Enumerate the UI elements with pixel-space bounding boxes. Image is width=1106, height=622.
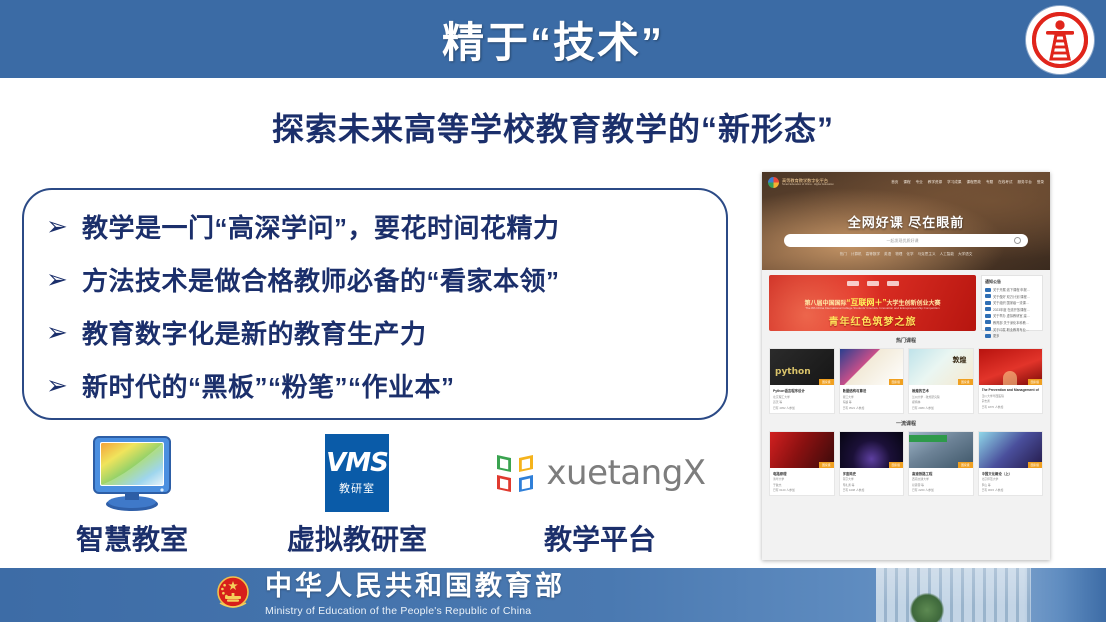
vms-logo: VMS 教研室 [242,432,472,514]
notice-item[interactable]: 关于做好 双万计划 课程… [985,294,1039,299]
search-placeholder: 一起发现优质好课 [887,238,919,244]
logo-item-smart-classroom: 智慧教室 [22,432,242,514]
notice-tag-icon [985,327,991,331]
logo-caption: 智慧教室 [22,518,242,558]
site-top-nav[interactable]: 高等教育教学数字化平台 Smart Education of China · H… [762,172,1050,192]
notice-item[interactable]: 关于举办 虚拟教研室 建… [985,313,1039,318]
course-card-row: 国家级 电路原理 清华大学 于歆杰 已有 6120 人参加 国家级 宇宙简史 南… [769,431,1043,497]
xuetangx-logo: xuetangX [472,432,728,514]
course-teacher: 郑炳林 [912,400,970,404]
nav-item[interactable]: 专题 [986,180,993,185]
notice-item[interactable]: 2023年度 在线开放课程… [985,307,1039,312]
monitor-icon [22,432,242,514]
course-title: 中国文化概论（上） [982,471,1040,476]
list-item: ➢ 教育数字化是新的教育生产力 [46,306,716,359]
nav-item[interactable]: 登录 [1037,180,1044,185]
notice-item-text: 2023年度 在线开放课程… [993,307,1030,312]
course-thumbnail: 国家级 [770,349,834,385]
notice-item-text: 关于做好 双万计划 课程… [993,294,1030,299]
course-teacher: 周礼勇 等 [843,483,901,487]
hero-tag[interactable]: 英语 [884,252,891,257]
page-title: 精于“技术” [0,0,1106,78]
ministry-building-photo [876,568,1031,622]
hero-tag[interactable]: 化学 [906,252,913,257]
notice-item-text: 更多 [993,333,999,338]
course-meta: 已有 2980 人参加 [912,406,970,410]
notice-item-text: 关于举办 虚拟教研室 建… [993,313,1030,318]
notice-item-text: 教育部 关于深化本科教… [993,320,1029,325]
course-teacher: 李山 等 [982,483,1040,487]
course-school: 西南交通大学 [912,477,970,481]
course-meta: 已有 3521 人参加 [843,406,901,410]
notice-tag-icon [985,320,991,324]
slide-root: 精于“技术” 探索未来高等学校教育教学的“新形 [0,0,1106,622]
hero-tag[interactable]: 马克思主义 [918,252,936,257]
course-meta: 已有 2260 人参加 [912,488,970,492]
course-title: The Prevention and Management of C… [982,388,1040,392]
notice-item[interactable]: 教育部 关于深化本科教… [985,320,1039,325]
course-card[interactable]: 国家级 高速铁路工程 西南交通大学 易思蓉 等 已有 2260 人参加 [908,431,974,497]
logo-item-teaching-platform: xuetangX 教学平台 [472,432,728,514]
xuetangx-wordmark: xuetangX [546,453,705,493]
site-nav-items[interactable]: 首页 课程 专业 教学资源 学习成果 课程思政 专题 在线考试 服务平台 登录 [891,180,1044,185]
ministry-name-en: Ministry of Education of the People's Re… [265,604,565,620]
nav-item[interactable]: 教学资源 [928,180,942,185]
nav-item[interactable]: 课程思政 [967,180,981,185]
course-meta: 已有 4408 人参加 [843,488,901,492]
arrow-bullet-icon: ➢ [46,214,82,240]
platform-logo-row: 智慧教室 VMS 教研室 虚拟教研室 [22,432,728,562]
bullet-list-box: ➢ 教学是一门“高深学问”，要花时间花精力 ➢ 方法技术是做合格教师必备的“看家… [22,188,728,420]
xuetangx-books-icon [494,451,536,495]
list-item: ➢ 新时代的“黑板”“粉笔”“作业本” [46,359,716,412]
hero-tag[interactable]: 大学语文 [958,252,972,257]
course-thumbnail: 国家级 [909,432,973,468]
course-badge: 国家级 [819,379,833,385]
course-school: 兰州大学 · 敦煌研究院 [912,395,970,399]
banner-line-en: The 8th China International College Stud… [769,306,976,310]
site-body: 第八届中国国际“互联网＋”大学生创新创业大赛 The 8th China Int… [762,270,1050,503]
bullet-text: 教育数字化是新的教育生产力 [82,314,427,351]
course-thumbnail: 国家级 [770,432,834,468]
course-badge: 国家级 [1028,462,1042,468]
slide-footer: 中华人民共和国教育部 Ministry of Education of the … [0,568,1106,622]
nav-item[interactable]: 首页 [891,180,898,185]
logo-caption: 教学平台 [472,518,728,558]
course-meta: 已有 3015 人参加 [982,488,1040,492]
course-school: 清华大学 [773,477,831,481]
section-title: 一流课程 [769,420,1043,427]
arrow-bullet-icon: ➢ [46,320,82,346]
logo-item-virtual-teaching-room: VMS 教研室 虚拟教研室 [242,432,472,514]
slide-subtitle: 探索未来高等学校教育教学的“新形态” [0,104,1106,150]
arrow-bullet-icon: ➢ [46,373,82,399]
site-brand-icon [768,177,779,188]
hero-tag[interactable]: 人工智能 [940,252,954,257]
nav-item[interactable]: 专业 [916,180,923,185]
notice-tag-icon [985,314,991,318]
sponsor-logos [769,281,976,286]
course-school: 北京理工大学 [773,395,831,399]
course-badge: 国家级 [819,462,833,468]
course-teacher: 宗志勇 [982,399,1040,403]
arrow-bullet-icon: ➢ [46,267,82,293]
sponsor-logo-icon [847,281,859,286]
course-school: 四川大学华西医院 [982,394,1040,398]
notice-panel[interactable]: 通知公告 关于开展 线下课程 申报… 关于做好 双万计划 课程… 关于组织 国家… [981,275,1043,331]
course-card[interactable]: 国家级 The Prevention and Management of C… … [978,348,1044,414]
course-badge: 国家级 [889,462,903,468]
search-input[interactable]: 一起发现优质好课 [784,234,1028,247]
course-title: 电路原理 [773,471,831,476]
site-brand-en: Smart Education of China · Higher Educat… [782,183,834,186]
hero-tag[interactable]: 热门 [840,252,847,257]
sponsor-logo-icon [867,281,879,286]
course-card[interactable]: 国家级 中国文化概论（上） 北京师范大学 李山 等 已有 3015 人参加 [978,431,1044,497]
course-teacher: 陈越 等 [843,400,901,404]
course-card-row: 国家级 Python语言程序设计 北京理工大学 嵩天 等 已有 4052 人参加… [769,348,1043,414]
notice-item[interactable]: 关于组织 国家级一流课… [985,300,1039,305]
course-teacher: 嵩天 等 [773,400,831,404]
notice-item[interactable]: 关于印发 职业教育专业… [985,327,1039,332]
notice-item-text: 关于印发 职业教育专业… [993,327,1029,332]
nav-item[interactable]: 在线考试 [998,180,1012,185]
course-card[interactable]: 国家级 电路原理 清华大学 于歆杰 已有 6120 人参加 [769,431,835,497]
ladder-emblem-logo [1026,6,1094,74]
nav-item[interactable]: 服务平台 [1017,180,1031,185]
course-meta: 已有 4052 人参加 [773,406,831,410]
course-title: Python语言程序设计 [773,388,831,393]
course-badge: 国家级 [889,379,903,385]
search-icon[interactable] [1014,237,1021,244]
notice-item[interactable]: 关于开展 线下课程 申报… [985,287,1039,292]
vms-wordmark: VMS [326,450,388,476]
vms-subtext: 教研室 [339,480,375,496]
banner-row: 第八届中国国际“互联网＋”大学生创新创业大赛 The 8th China Int… [769,275,1043,331]
course-title: 高速铁路工程 [912,471,970,476]
course-meta: 已有 6120 人参加 [773,488,831,492]
bullet-text: 新时代的“黑板”“粉笔”“作业本” [82,367,455,404]
bullet-text: 教学是一门“高深学问”，要花时间花精力 [82,208,560,245]
bullet-text: 方法技术是做合格教师必备的“看家本领” [82,261,560,298]
course-school: 浙江大学 [843,395,901,399]
course-badge: 国家级 [958,462,972,468]
nav-item[interactable]: 课程 [903,180,910,185]
notice-tag-icon [985,288,991,292]
course-teacher: 于歆杰 [773,483,831,487]
course-title: 宇宙简史 [843,471,901,476]
site-brand[interactable]: 高等教育教学数字化平台 Smart Education of China · H… [768,177,834,188]
course-card[interactable]: 国家级 敦煌的艺术 兰州大学 · 敦煌研究院 郑炳林 已有 2980 人参加 [908,348,974,414]
promo-banner[interactable]: 第八届中国国际“互联网＋”大学生创新创业大赛 The 8th China Int… [769,275,976,331]
course-thumbnail: 国家级 [909,349,973,385]
slide-header: 精于“技术” [0,0,1106,78]
website-screenshot: 高等教育教学数字化平台 Smart Education of China · H… [762,172,1050,560]
course-title: 数据结构与算法 [843,388,901,393]
course-thumbnail: 国家级 [979,432,1043,468]
national-emblem [212,572,254,618]
banner-line-2: 青年红色筑梦之旅 [769,313,976,328]
course-card[interactable]: 国家级 宇宙简史 南京大学 周礼勇 等 已有 4408 人参加 [839,431,905,497]
course-teacher: 易思蓉 等 [912,483,970,487]
course-card[interactable]: 国家级 数据结构与算法 浙江大学 陈越 等 已有 3521 人参加 [839,348,905,414]
notice-tag-icon [985,301,991,305]
notice-tag-icon [985,334,991,338]
notice-tag-icon [985,307,991,311]
hero-tag[interactable]: 物理 [895,252,902,257]
footer-fade-overlay [1024,568,1106,622]
course-meta: 已有 1870 人参加 [982,405,1040,409]
notice-item-more[interactable]: 更多 [985,333,1039,338]
hero-tag[interactable]: 计算机 [851,252,862,257]
course-title: 敦煌的艺术 [912,388,970,393]
course-badge: 国家级 [1028,379,1042,385]
course-school: 南京大学 [843,477,901,481]
nav-item[interactable]: 学习成果 [947,180,961,185]
notice-item-text: 关于组织 国家级一流课… [993,300,1029,305]
course-card[interactable]: 国家级 Python语言程序设计 北京理工大学 嵩天 等 已有 4052 人参加 [769,348,835,414]
site-hero-banner: 高等教育教学数字化平台 Smart Education of China · H… [762,172,1050,270]
course-thumbnail: 国家级 [840,349,904,385]
logo-caption: 虚拟教研室 [242,518,472,558]
ministry-name-cn: 中华人民共和国教育部 [265,571,565,602]
course-badge: 国家级 [958,379,972,385]
course-school: 北京师范大学 [982,477,1040,481]
notice-tag-icon [985,294,991,298]
notice-panel-title: 通知公告 [985,279,1039,285]
hero-tag-list[interactable]: 热门 计算机 高等数学 英语 物理 化学 马克思主义 人工智能 大学语文 [762,252,1050,257]
sponsor-logo-icon [887,281,899,286]
course-thumbnail: 国家级 [840,432,904,468]
list-item: ➢ 教学是一门“高深学问”，要花时间花精力 [46,200,716,253]
course-thumbnail: 国家级 [979,349,1043,385]
notice-item-text: 关于开展 线下课程 申报… [993,287,1030,292]
site-hero-title: 全网好课 尽在眼前 [762,212,1050,231]
hero-tag[interactable]: 高等数学 [866,252,880,257]
list-item: ➢ 方法技术是做合格教师必备的“看家本领” [46,253,716,306]
